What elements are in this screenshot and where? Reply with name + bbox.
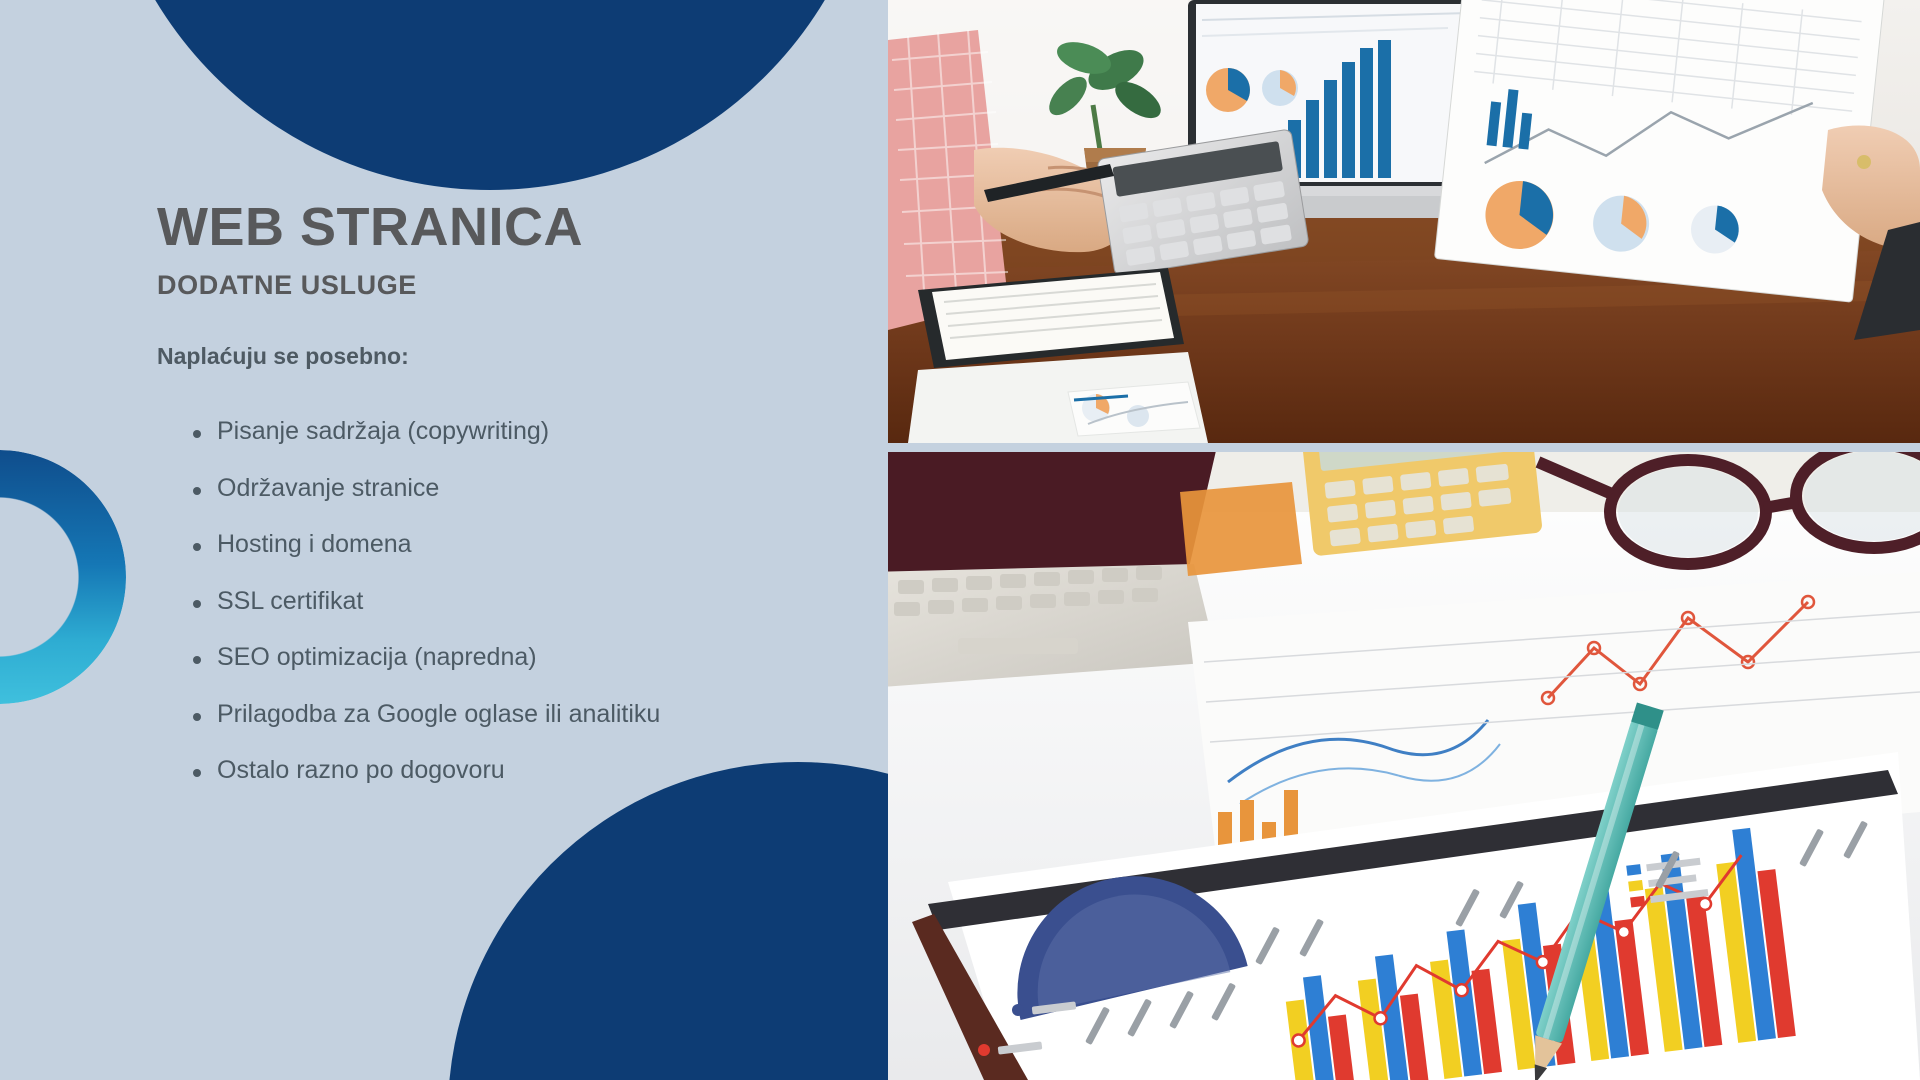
left-content-panel: WEB STRANICA DODATNE USLUGE Naplaćuju se… <box>0 0 888 1080</box>
presentation-slide: WEB STRANICA DODATNE USLUGE Naplaćuju se… <box>0 0 1920 1080</box>
bullet-dot-icon <box>193 656 201 664</box>
bullet-dot-icon <box>193 543 201 551</box>
decorative-gradient-ring-icon <box>0 450 126 704</box>
list-item: Hosting i domena <box>175 531 660 558</box>
bullet-dot-icon <box>193 430 201 438</box>
right-image-panel <box>888 0 1920 1080</box>
list-item-label: Hosting i domena <box>217 530 412 558</box>
list-item: Ostalo razno po dogovoru <box>175 757 660 784</box>
list-item: Pisanje sadržaja (copywriting) <box>175 418 660 445</box>
list-item-label: SSL certifikat <box>217 587 363 615</box>
photo-top-illustration <box>888 0 1920 443</box>
list-item-label: Ostalo razno po dogovoru <box>217 756 505 784</box>
bullet-dot-icon <box>193 769 201 777</box>
list-item-label: Pisanje sadržaja (copywriting) <box>217 417 549 445</box>
bullet-dot-icon <box>193 713 201 721</box>
list-item-label: Održavanje stranice <box>217 474 439 502</box>
list-item: SEO optimizacija (napredna) <box>175 644 660 671</box>
photo-business-meeting <box>888 0 1920 443</box>
photo-bottom-illustration <box>888 452 1920 1080</box>
page-title: WEB STRANICA <box>157 196 583 258</box>
photo-charts-closeup <box>888 452 1920 1080</box>
decorative-navy-circle-top <box>100 0 880 190</box>
services-list: Pisanje sadržaja (copywriting) Održavanj… <box>175 418 660 814</box>
list-item: Prilagodba za Google oglase ili analitik… <box>175 701 660 728</box>
list-item: SSL certifikat <box>175 588 660 615</box>
lead-text: Naplaćuju se posebno: <box>157 343 409 370</box>
page-subtitle: DODATNE USLUGE <box>157 270 417 301</box>
list-item-label: Prilagodba za Google oglase ili analitik… <box>217 700 660 728</box>
list-item-label: SEO optimizacija (napredna) <box>217 643 537 671</box>
bullet-dot-icon <box>193 600 201 608</box>
bullet-dot-icon <box>193 487 201 495</box>
list-item: Održavanje stranice <box>175 475 660 502</box>
